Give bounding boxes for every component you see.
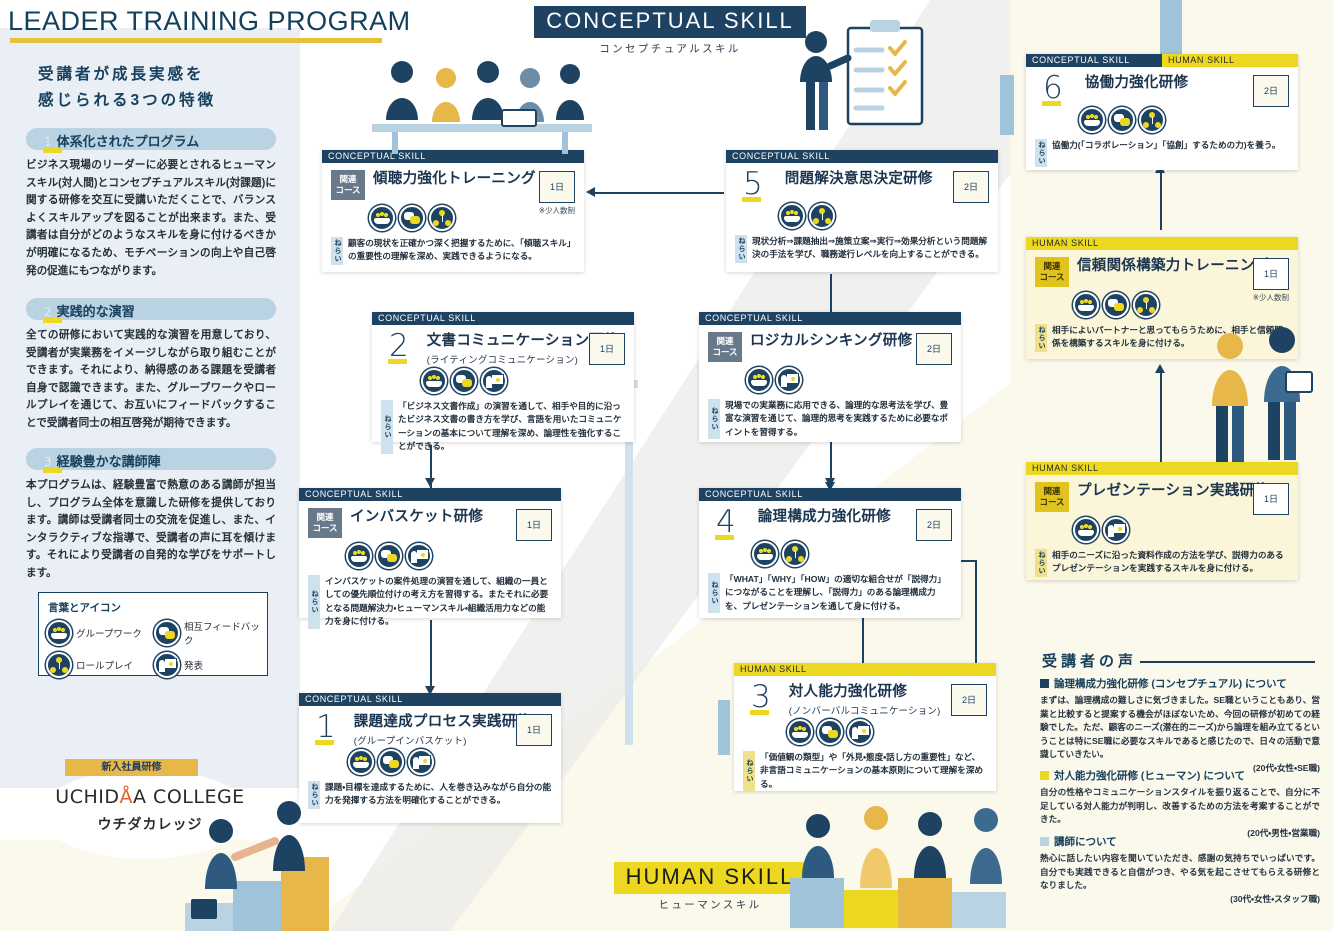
mutual-feedback-icon <box>451 368 477 394</box>
card-task-achievement-title: 課題達成プロセス実践研修 <box>354 713 532 732</box>
card-in-basket-related-badge: 関連コース <box>308 508 342 538</box>
instructor-color-swatch-icon <box>1040 837 1049 846</box>
legend-label-role-play: ロールプレイ <box>76 658 133 672</box>
aim-tag: ねらい <box>735 235 747 263</box>
group-work-icon <box>369 205 395 231</box>
card-presentation-title: プレゼンテーション実践研修 <box>1077 482 1269 501</box>
connector-3-to-presentation-v <box>975 562 977 672</box>
card-logical-structure-days: 2日 <box>916 509 952 541</box>
card-interpersonal-skill-label: HUMAN SKILL <box>734 663 996 676</box>
decorative-strip-2 <box>718 700 730 755</box>
connector-presentation-to-trust <box>1160 370 1162 468</box>
card-presentation-aim-text: 相手のニーズに沿った資料作成の方法を学び、説得力のあるプレゼンテーションを実践す… <box>1052 549 1289 577</box>
arrow-up-2 <box>1155 364 1165 373</box>
role-play-icon <box>782 541 808 567</box>
card-listening-aim-text: 顧客の現状を正確かつ深く把握するために、「傾聴スキル」の重要性の理解を深め、実践… <box>348 237 575 265</box>
arrow-left <box>586 187 595 197</box>
role-play-icon <box>46 652 72 678</box>
group-work-icon <box>787 719 813 745</box>
illustration-meeting-group <box>372 50 592 155</box>
group-work-icon <box>1073 517 1099 543</box>
card-listening-aim: ねらい 顧客の現状を正確かつ深く把握するために、「傾聴スキル」の重要性の理解を深… <box>331 237 575 265</box>
aim-tag: ねらい <box>381 400 393 454</box>
card-logical-structure-aim-text: 「WHAT」「WHY」「HOW」の適切な組合せが「説得力」につながることを理解し… <box>725 573 952 613</box>
card-presentation-days: 1日 <box>1253 483 1289 515</box>
card-listening-days: 1日 <box>539 171 575 203</box>
feature-2-number: 2 <box>44 305 52 319</box>
feature-3: 3経験豊かな講師陣 本プログラムは、経験豊富で熱意のある講師が担当し、プログラム… <box>26 448 276 583</box>
legend-label-presentation: 発表 <box>184 658 203 672</box>
card-task-achievement-subtitle: (グループインバスケット) <box>354 733 532 747</box>
card-interpersonal-aim: ねらい 「価値観の類型」や「外見・態度・話し方の重要性」など、非言語コミュニケー… <box>743 751 987 791</box>
legend-box: 言葉とアイコン グループワーク 相互フィードバック ロールプレイ 発表 <box>38 592 268 676</box>
testimonial-3-heading-row: 講師について <box>1040 834 1320 849</box>
feature-3-title: 3経験豊かな講師陣 <box>26 448 276 470</box>
illustration-team-puzzle <box>790 800 1020 931</box>
arrow-down-4 <box>425 478 435 487</box>
card-interpersonal-icons <box>787 719 987 745</box>
card-presentation-icons <box>1073 517 1289 543</box>
card-interpersonal-aim-text: 「価値観の類型」や「外見・態度・話し方の重要性」など、非言語コミュニケーションの… <box>760 751 987 791</box>
conceptual-color-swatch-icon <box>1040 679 1049 688</box>
card-problem-solving-number: 5 <box>743 170 763 198</box>
card-presentation[interactable]: HUMAN SKILL 関連コース プレゼンテーション実践研修 1日 ねらい 相… <box>1026 462 1298 580</box>
aim-tag: ねらい <box>331 237 343 265</box>
card-logical-thinking-skill-label: CONCEPTUAL SKILL <box>699 312 961 325</box>
logo-part-1: UCH <box>55 786 98 808</box>
feature-2-body: 全ての研修において実践的な演習を用意しており、受講者が実業務をイメージしながら取… <box>26 327 276 433</box>
aim-tag: ねらい <box>308 575 320 629</box>
card-logical-structure-aim: ねらい 「WHAT」「WHY」「HOW」の適切な組合せが「説得力」につながること… <box>708 573 952 613</box>
connector-4-to-3 <box>862 618 864 666</box>
group-work-icon <box>1073 292 1099 318</box>
card-logical-thinking-icons <box>746 367 952 393</box>
mutual-feedback-icon <box>399 205 425 231</box>
card-document-communication[interactable]: CONCEPTUAL SKILL 2 文書コミュニケーション研修 (ライティング… <box>372 312 634 442</box>
decorative-top-bar <box>1160 0 1182 58</box>
group-work-icon <box>421 368 447 394</box>
testimonial-3-body: 熱心に話したい内容を聞いていただき、感謝の気持ちでいっぱいです。自分でも実践でき… <box>1040 852 1320 893</box>
role-play-icon <box>1139 107 1165 133</box>
feature-2-label: 実践的な演習 <box>57 304 135 319</box>
testimonial-2-heading-row: 対人能力強化研修 (ヒューマン) について <box>1040 768 1320 783</box>
card-logical-structure-icons <box>752 541 952 567</box>
card-in-basket-days: 1日 <box>516 509 552 541</box>
mutual-feedback-icon <box>154 620 180 646</box>
card-listening-related-badge: 関連コース <box>331 170 365 200</box>
aim-tag: ねらい <box>708 399 720 439</box>
card-logical-thinking-aim-text: 現場での実業務に応用できる、論理的な思考法を学び、豊富な演習を通じて、論理的思考… <box>725 399 952 439</box>
legend-item-mutual-feedback: 相互フィードバック <box>154 619 262 647</box>
title-underline <box>10 38 382 43</box>
card-task-achievement-aim-text: 課題・目標を達成するために、人を巻き込みながら自分の能力を発揮する方法を明確化す… <box>325 781 552 809</box>
card-document-communication-number: 2 <box>389 332 409 360</box>
testimonial-2-body: 自分の性格やコミュニケーションスタイルを振り返ることで、自分に不足している対人能… <box>1040 786 1320 827</box>
card-collaboration-days: 2日 <box>1253 75 1289 107</box>
testimonial-3-author: (30代・女性・スタッフ職) <box>1040 893 1320 907</box>
card-in-basket-title: インバスケット研修 <box>350 508 483 527</box>
mutual-feedback-icon <box>1109 107 1135 133</box>
card-presentation-aim: ねらい 相手のニーズに沿った資料作成の方法を学び、説得力のあるプレゼンテーション… <box>1035 549 1289 577</box>
card-task-achievement-skill-label: CONCEPTUAL SKILL <box>299 693 561 706</box>
testimonial-3: 講師について 熱心に話したい内容を聞いていただき、感謝の気持ちでいっぱいです。自… <box>1040 834 1320 906</box>
legend-item-group-work: グループワーク <box>46 619 154 647</box>
testimonial-1-body: まずは、論理構成の難しさに気づきました。SE職ということもあり、営業と比較すると… <box>1040 694 1320 762</box>
feature-2: 2実践的な演習 全ての研修において実践的な演習を用意しており、受講者が実業務をイ… <box>26 298 276 433</box>
card-logical-structure-number: 4 <box>716 508 736 536</box>
group-work-icon <box>348 749 374 775</box>
card-in-basket-icons <box>346 543 552 569</box>
feature-3-body: 本プログラムは、経験豊富で熱意のある講師が担当し、プログラム全体を意識した研修を… <box>26 477 276 583</box>
card-collaboration-number: 6 <box>1043 74 1063 102</box>
role-play-icon <box>1133 292 1159 318</box>
card-document-communication-aim: ねらい 「ビジネス文書作成」の演習を通して、相手や目的に沿ったビジネス文書の書き… <box>381 400 625 454</box>
card-listening-note: ※少人数制 <box>539 205 575 216</box>
illustration-presenter-checklist <box>790 20 930 155</box>
presentation-icon <box>776 367 802 393</box>
feature-1-title: 1体系化されたプログラム <box>26 128 276 150</box>
presentation-icon <box>481 368 507 394</box>
card-interpersonal-subtitle: (ノンバーバルコミュニケーション) <box>789 703 941 717</box>
feature-3-number: 3 <box>44 455 52 469</box>
testimonial-1-heading-row: 論理構成力強化研修 (コンセプチュアル) について <box>1040 676 1320 691</box>
testimonial-1: 論理構成力強化研修 (コンセプチュアル) について まずは、論理構成の難しさに気… <box>1040 676 1320 776</box>
card-collaboration-skill-label-human: HUMAN SKILL <box>1162 54 1298 67</box>
new-employee-badge: 新入社員研修 <box>65 759 198 776</box>
card-in-basket-skill-label: CONCEPTUAL SKILL <box>299 488 561 501</box>
arrow-down-6 <box>825 478 835 487</box>
card-task-achievement-days: 1日 <box>516 714 552 746</box>
card-logical-thinking-days: 2日 <box>916 333 952 365</box>
sidebar-heading-line1: 受講者が成長実感を <box>38 62 216 88</box>
card-problem-solving[interactable]: CONCEPTUAL SKILL 5 問題解決意思決定研修 2日 ねらい 現状分… <box>726 150 998 272</box>
card-document-communication-icons <box>421 368 625 394</box>
aim-tag: ねらい <box>1035 324 1047 352</box>
human-color-swatch-icon <box>1040 771 1049 780</box>
card-trust-building-related-badge: 関連コース <box>1035 257 1069 287</box>
group-work-icon <box>746 367 772 393</box>
card-logical-thinking-related-badge: 関連コース <box>708 332 742 362</box>
illustration-stairs-handshake <box>185 795 345 931</box>
card-trust-building-skill-label: HUMAN SKILL <box>1026 237 1298 250</box>
mutual-feedback-icon <box>376 543 402 569</box>
card-interpersonal-days: 2日 <box>951 684 987 716</box>
decorative-strip-3 <box>1000 75 1014 135</box>
card-problem-solving-aim-text: 現状分析⇒課題抽出⇒施策立案⇒実行⇒効果分析という問題解決の手法を学び、職務遂行… <box>752 235 989 263</box>
card-problem-solving-icons <box>779 203 989 229</box>
card-collaboration-title: 協働力強化研修 <box>1085 74 1189 93</box>
role-play-icon <box>809 203 835 229</box>
card-collaboration[interactable]: CONCEPTUAL SKILL HUMAN SKILL 6 協働力強化研修 2… <box>1026 54 1298 170</box>
card-problem-solving-aim: ねらい 現状分析⇒課題抽出⇒施策立案⇒実行⇒効果分析という問題解決の手法を学び、… <box>735 235 989 263</box>
feature-1: 1体系化されたプログラム ビジネス現場のリーダーに必要とされるヒューマンスキル(… <box>26 128 276 280</box>
presentation-icon <box>1103 517 1129 543</box>
card-problem-solving-title: 問題解決意思決定研修 <box>785 170 933 189</box>
mutual-feedback-icon <box>1103 292 1129 318</box>
card-presentation-related-badge: 関連コース <box>1035 482 1069 512</box>
aim-tag: ねらい <box>743 751 755 791</box>
card-task-achievement-icons <box>348 749 552 775</box>
feature-1-body: ビジネス現場のリーダーに必要とされるヒューマンスキル(対人間)とコンセプチュアル… <box>26 157 276 280</box>
card-document-communication-aim-text: 「ビジネス文書作成」の演習を通して、相手や目的に沿ったビジネス文書の書き方を学び… <box>398 400 625 454</box>
aim-tag: ねらい <box>1035 549 1047 577</box>
card-in-basket-aim: ねらい インバスケットの案件処理の演習を通して、組織の一員としての優先順位付けの… <box>308 575 552 629</box>
aim-tag: ねらい <box>1035 139 1047 167</box>
card-listening-title: 傾聴力強化トレーニング <box>373 170 536 189</box>
testimonials-rule <box>1140 661 1315 663</box>
group-work-icon <box>46 620 72 646</box>
legend-item-presentation: 発表 <box>154 652 262 678</box>
card-in-basket[interactable]: CONCEPTUAL SKILL 関連コース インバスケット研修 1日 ねらい … <box>299 488 561 618</box>
feature-1-number: 1 <box>44 135 52 149</box>
page-title: LEADER TRAINING PROGRAM <box>8 6 411 37</box>
card-document-communication-days: 1日 <box>589 333 625 365</box>
legend-label-group-work: グループワーク <box>76 626 142 640</box>
testimonial-2: 対人能力強化研修 (ヒューマン) について 自分の性格やコミュニケーションスタイ… <box>1040 768 1320 840</box>
card-listening[interactable]: CONCEPTUAL SKILL 関連コース 傾聴力強化トレーニング 1日 ※少… <box>322 150 584 272</box>
connector-trust-to-6 <box>1160 170 1162 230</box>
card-collaboration-icons <box>1079 107 1289 133</box>
legend-label-mutual-feedback: 相互フィードバック <box>184 619 262 647</box>
banner-conceptual-en: CONCEPTUAL SKILL <box>534 6 806 38</box>
card-logical-thinking[interactable]: CONCEPTUAL SKILL 関連コース ロジカルシンキング研修 2日 ねら… <box>699 312 961 442</box>
card-document-communication-skill-label: CONCEPTUAL SKILL <box>372 312 634 325</box>
logo-part-2: D <box>104 786 119 808</box>
card-collaboration-skill-label-conceptual: CONCEPTUAL SKILL <box>1026 54 1162 67</box>
illustration-two-colleagues <box>1200 320 1320 470</box>
presentation-icon <box>408 749 434 775</box>
card-trust-building-title: 信頼関係構築力トレーニング <box>1077 257 1269 276</box>
card-trust-building-note: ※少人数制 <box>1253 292 1289 303</box>
testimonials-title: 受講者の声 <box>1042 650 1137 671</box>
sidebar-heading: 受講者が成長実感を 感じられる3つの特徴 <box>38 62 216 114</box>
presentation-icon <box>847 719 873 745</box>
testimonial-3-heading: 講師について <box>1054 834 1117 849</box>
legend-item-role-play: ロールプレイ <box>46 652 154 678</box>
banner-conceptual-skill: CONCEPTUAL SKILL コンセプチュアルスキル <box>520 6 820 56</box>
card-interpersonal-title: 対人能力強化研修 <box>789 683 941 702</box>
banner-human-en: HUMAN SKILL <box>614 862 807 894</box>
card-logical-thinking-title: ロジカルシンキング研修 <box>750 332 912 351</box>
presentation-icon <box>154 652 180 678</box>
card-problem-solving-days: 2日 <box>953 171 989 203</box>
card-logical-structure-skill-label: CONCEPTUAL SKILL <box>699 488 961 501</box>
card-interpersonal[interactable]: HUMAN SKILL 3 対人能力強化研修 (ノンバーバルコミュニケーション)… <box>734 663 996 791</box>
feature-1-label: 体系化されたプログラム <box>57 134 200 149</box>
card-collaboration-aim-text: 協働力(「コラボレーション」「協創」するための力)を養う。 <box>1052 139 1280 167</box>
card-in-basket-aim-text: インバスケットの案件処理の演習を通して、組織の一員としての優先順位付けの考え方を… <box>325 575 552 629</box>
group-work-icon <box>1079 107 1105 133</box>
group-work-icon <box>779 203 805 229</box>
testimonial-2-heading: 対人能力強化研修 (ヒューマン) について <box>1054 768 1245 783</box>
aim-tag: ねらい <box>708 573 720 613</box>
mutual-feedback-icon <box>817 719 843 745</box>
group-work-icon <box>346 543 372 569</box>
sidebar-heading-line2: 感じられる3つの特徴 <box>38 88 216 114</box>
card-collaboration-aim: ねらい 協働力(「コラボレーション」「協創」するための力)を養う。 <box>1035 139 1289 167</box>
card-logical-structure-title: 論理構成力強化研修 <box>758 508 891 527</box>
card-interpersonal-number: 3 <box>751 683 771 711</box>
presentation-icon <box>406 543 432 569</box>
card-trust-building-days: 1日 <box>1253 258 1289 290</box>
feature-3-label: 経験豊かな講師陣 <box>57 454 161 469</box>
card-task-achievement-number: 1 <box>316 713 336 741</box>
card-logical-thinking-aim: ねらい 現場での実業務に応用できる、論理的な思考法を学び、豊富な演習を通じて、論… <box>708 399 952 439</box>
connector-5-to-listening <box>594 192 724 194</box>
role-play-icon <box>429 205 455 231</box>
mutual-feedback-icon <box>378 749 404 775</box>
testimonial-1-heading: 論理構成力強化研修 (コンセプチュアル) について <box>1054 676 1287 691</box>
group-work-icon <box>752 541 778 567</box>
card-logical-structure[interactable]: CONCEPTUAL SKILL 4 論理構成力強化研修 2日 ねらい 「WHA… <box>699 488 961 618</box>
feature-2-title: 2実践的な演習 <box>26 298 276 320</box>
legend-title: 言葉とアイコン <box>48 600 267 615</box>
